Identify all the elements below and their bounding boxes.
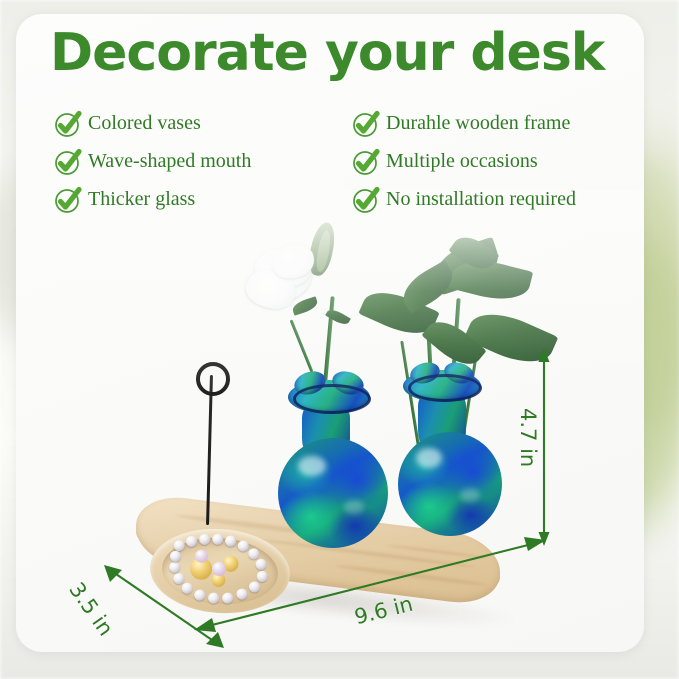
feature-item: Durahle wooden frame	[352, 104, 652, 142]
feature-label: Wave-shaped mouth	[88, 150, 251, 173]
feature-label: Multiple occasions	[386, 150, 538, 173]
photo-holder-loop	[196, 362, 230, 396]
feature-column-left: Colored vases Wave-shaped mouth	[54, 104, 354, 218]
check-circle-icon	[352, 110, 379, 137]
check-circle-icon	[54, 110, 81, 137]
feature-item: Thicker glass	[54, 180, 354, 218]
check-circle-icon	[54, 186, 81, 213]
check-circle-icon	[54, 148, 81, 175]
feature-label: No installation required	[386, 188, 576, 211]
feature-item: Colored vases	[54, 104, 354, 142]
page-title: Decorate your desk	[50, 26, 650, 81]
feature-label: Colored vases	[88, 112, 201, 135]
feature-label: Durahle wooden frame	[386, 112, 570, 135]
check-circle-icon	[352, 148, 379, 175]
feature-label: Thicker glass	[88, 188, 195, 211]
dimension-height-label: 4.7 in	[516, 408, 540, 467]
feature-column-right: Durahle wooden frame Multiple occasions	[352, 104, 652, 218]
feature-item: Multiple occasions	[352, 142, 652, 180]
feature-item: Wave-shaped mouth	[54, 142, 354, 180]
product-infographic: Decorate your desk Colored vases	[0, 0, 679, 679]
check-circle-icon	[352, 186, 379, 213]
feature-item: No installation required	[352, 180, 652, 218]
